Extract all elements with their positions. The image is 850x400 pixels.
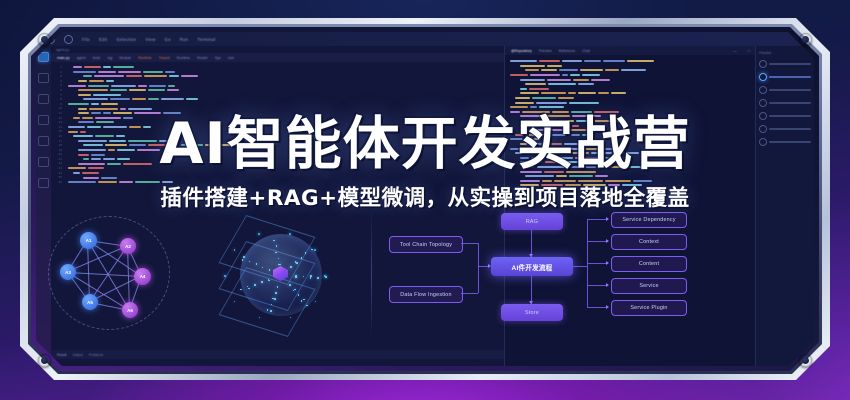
maximize-icon[interactable]: □ xyxy=(748,48,750,53)
editor-breadcrumb: agent.py xyxy=(51,46,504,53)
flow-diagram: RAG AI件开发流程 Store Tool Chain Topology Da… xyxy=(371,210,814,338)
flow-node-right-4[interactable]: Service xyxy=(611,278,687,294)
status-tab-result[interactable]: Result xyxy=(57,353,67,357)
minimize-icon[interactable]: — xyxy=(733,48,737,53)
tab-runtime2[interactable]: Runtime xyxy=(177,56,190,60)
chain-icon xyxy=(759,112,767,120)
eye-icon xyxy=(759,73,767,81)
tool-icon xyxy=(759,99,767,107)
temp-icon xyxy=(759,138,767,146)
flow-node-left-1[interactable]: Tool Chain Topology xyxy=(389,236,463,253)
extensions-icon[interactable] xyxy=(38,136,49,146)
agent-network-icon: A1 A2 A3 A4 A5 A6 xyxy=(36,210,196,338)
inspector-row-vision[interactable] xyxy=(759,73,811,81)
flow-node-right-1[interactable]: Service Dependency xyxy=(611,212,687,228)
settings-icon[interactable] xyxy=(38,178,49,188)
flow-node-center[interactable]: AI件开发流程 xyxy=(491,257,573,276)
tab-main[interactable]: main.py xyxy=(57,56,70,60)
token-icon xyxy=(759,125,767,133)
tab-sys[interactable]: Sys xyxy=(215,56,221,60)
visualization-strip: A1 A2 A3 A4 A5 A6 RAG AI件开发流程 Store Tool… xyxy=(36,210,814,338)
editor-status-bar[interactable]: Result Output Problems xyxy=(51,350,504,359)
inspector-row-memory[interactable] xyxy=(759,86,811,94)
ide-toolbar[interactable]: File Edit Selection View Go Run Terminal xyxy=(36,32,814,46)
frame-screw-bottom-left xyxy=(38,354,51,367)
network-node-5: A5 xyxy=(82,294,98,310)
editor-status-text-wrap: Python 3.11.4 xyxy=(51,359,504,366)
inspector-row-chain[interactable] xyxy=(759,112,811,120)
toolbar-menu-file[interactable]: File xyxy=(82,37,90,42)
search-icon[interactable] xyxy=(64,35,73,44)
frame-screw-bottom-right xyxy=(799,354,812,367)
tab-tools[interactable]: tools xyxy=(93,56,101,60)
flow-node-store[interactable]: Store xyxy=(501,304,563,321)
remote-icon[interactable] xyxy=(38,157,49,167)
tab-reference[interactable]: Reference xyxy=(559,49,576,53)
poster-root: File Edit Selection View Go Run Terminal xyxy=(0,0,850,400)
toolbar-menu-terminal[interactable]: Terminal xyxy=(197,37,215,42)
frame-screw-top-left xyxy=(38,33,51,46)
inspector-row-tools[interactable] xyxy=(759,99,811,107)
inspector-row-temp[interactable] xyxy=(759,138,811,146)
frame-screw-top-right xyxy=(799,33,812,46)
flow-node-left-2[interactable]: Data Flow Ingestion xyxy=(389,286,463,303)
network-node-2: A2 xyxy=(120,238,136,254)
toolbar-menu-view[interactable]: View xyxy=(145,37,155,42)
flow-node-right-3[interactable]: Content xyxy=(611,256,687,272)
source-control-icon[interactable] xyxy=(38,94,49,104)
network-node-1: A1 xyxy=(80,232,97,249)
tab-rag[interactable]: rag xyxy=(107,56,112,60)
network-node-3: A3 xyxy=(60,264,76,280)
tab-agent[interactable]: agent xyxy=(77,56,86,60)
inspector-row-model[interactable] xyxy=(759,60,811,68)
status-tab-problems[interactable]: Problems xyxy=(89,353,103,357)
side-panel-tab-bar[interactable]: @Repository Preview Reference Chat — □ xyxy=(505,46,755,55)
status-tab-output[interactable]: Output xyxy=(73,353,83,357)
tab-use[interactable]: Use xyxy=(228,56,234,60)
tab-module[interactable]: Module xyxy=(119,56,131,60)
tab-repository[interactable]: @Repository xyxy=(511,49,532,53)
inspector-row-token[interactable] xyxy=(759,125,811,133)
toolbar-menu-run[interactable]: Run xyxy=(180,37,189,42)
tab-chat[interactable]: Chat xyxy=(582,49,590,53)
network-node-6: A6 xyxy=(122,302,138,318)
editor-tab-bar[interactable]: main.py agent tools rag Module Runtime T… xyxy=(51,53,504,62)
toolbar-menu-go[interactable]: Go xyxy=(165,37,171,42)
tab-traced[interactable]: Traced xyxy=(159,56,170,60)
flow-node-right-5[interactable]: Service Plugin xyxy=(611,300,687,316)
model-icon xyxy=(759,60,767,68)
flow-node-rag[interactable]: RAG xyxy=(501,213,563,230)
debug-icon[interactable] xyxy=(38,115,49,125)
tab-runtime[interactable]: Runtime xyxy=(138,56,151,60)
inspector-title: Preview xyxy=(759,51,811,55)
knowledge-sphere-icon xyxy=(196,210,371,338)
memory-icon xyxy=(759,86,767,94)
tab-router[interactable]: Router xyxy=(197,56,208,60)
toolbar-menu-selection[interactable]: Selection xyxy=(116,37,136,42)
flow-node-right-2[interactable]: Context xyxy=(611,234,687,250)
network-node-4: A4 xyxy=(134,268,151,285)
tab-preview[interactable]: Preview xyxy=(539,49,552,53)
search-icon[interactable] xyxy=(38,73,49,83)
toolbar-menu-edit[interactable]: Edit xyxy=(99,37,107,42)
